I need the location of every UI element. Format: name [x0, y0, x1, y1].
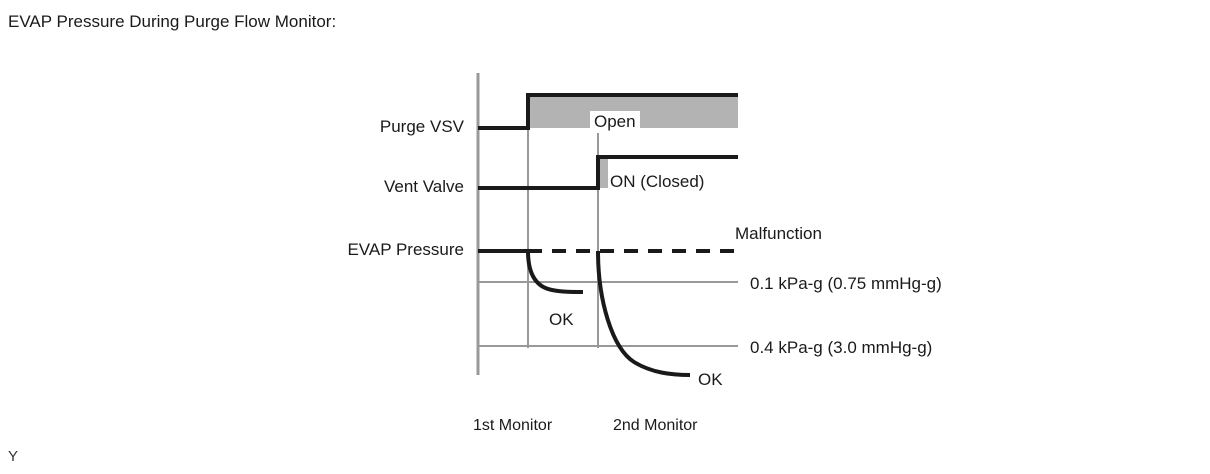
threshold-label-0-1-kpa: 0.1 kPa-g (0.75 mmHg-g)	[750, 274, 942, 294]
phase-label-1st-monitor: 1st Monitor	[473, 417, 552, 435]
evap-curve-1st-monitor	[528, 251, 583, 292]
phase-label-2nd-monitor: 2nd Monitor	[613, 417, 698, 435]
result-label-ok-2nd-monitor: OK	[698, 370, 723, 390]
row-label-vent-valve-text: Vent Valve	[384, 177, 464, 197]
evap-pressure-diagram: Purge VSV Vent Valve EVAP Pressure Open …	[0, 0, 1210, 474]
row-label-evap-pressure-text: EVAP Pressure	[347, 240, 464, 260]
stray-character: Y	[8, 448, 18, 465]
row-label-purge-vsv-text: Purge VSV	[380, 117, 464, 137]
threshold-label-malfunction: Malfunction	[735, 224, 822, 244]
result-label-ok-1st-monitor: OK	[549, 310, 574, 330]
diagram-canvas	[0, 0, 1210, 474]
state-label-on-closed: ON (Closed)	[610, 172, 704, 192]
evap-curve-2nd-monitor	[598, 251, 690, 375]
threshold-label-0-4-kpa: 0.4 kPa-g (3.0 mmHg-g)	[750, 338, 932, 358]
state-label-open: Open	[590, 111, 640, 133]
